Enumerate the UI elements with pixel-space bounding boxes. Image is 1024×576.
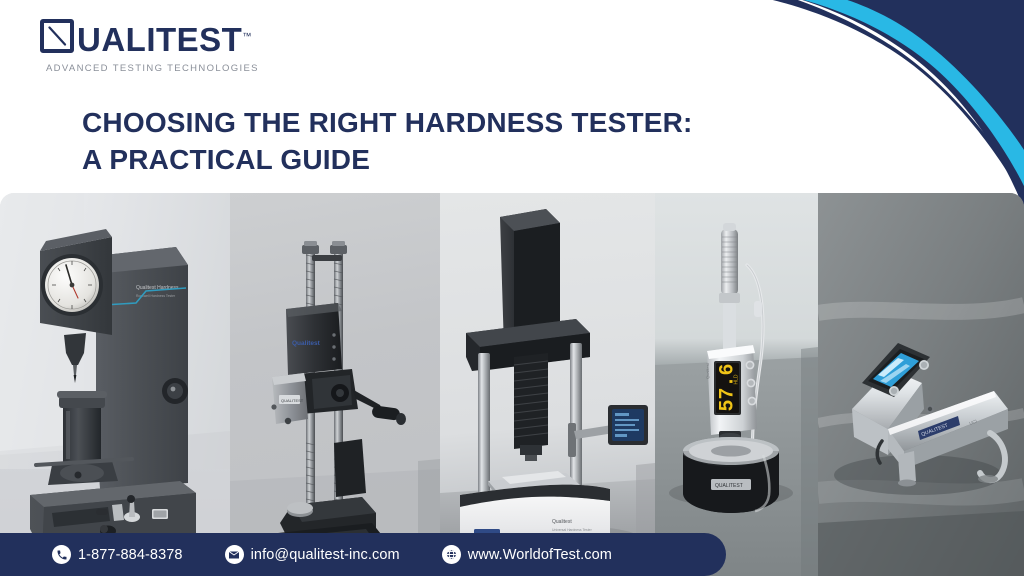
svg-text:Universal Hardness Tester: Universal Hardness Tester [552,528,593,532]
header: UALITEST™ ADVANCED TESTING TECHNOLOGIES … [0,0,780,178]
contact-website[interactable]: www.WorldofTest.com [442,545,612,564]
gallery-panel-bench-rockwell-hardness-tester[interactable]: Qualitest Hardness Rockwell Hardness Tes… [0,193,230,576]
svg-text:HLD: HLD [734,374,740,384]
column-brinell-hardness-tester-image: Qualitest QUALITEST [230,193,440,576]
brand-trademark: ™ [242,31,252,41]
brand-wordmark-text: UALITEST [77,21,242,58]
gallery-panel-handheld-uci-hardness-tester[interactable]: QUALITEST UCI [818,193,1024,576]
svg-text:QUALITEST: QUALITEST [715,483,743,489]
page-title-line2: A PRACTICAL GUIDE [82,141,780,178]
logo[interactable]: UALITEST™ [40,18,780,58]
contact-footer-bar: 1-877-884-8378 info@qualitest-inc.com [0,533,726,576]
product-gallery-strip: Qualitest Hardness Rockwell Hardness Tes… [0,193,1024,576]
contact-phone[interactable]: 1-877-884-8378 [52,545,183,564]
hardness-tester-banner: UALITEST™ ADVANCED TESTING TECHNOLOGIES … [0,0,1024,576]
contact-email-label: info@qualitest-inc.com [251,547,400,563]
universal-hardness-testing-machine-image: Qualitest Universal Hardness Tester QUAL… [440,193,655,576]
svg-text:Qualitest: Qualitest [705,362,710,379]
contact-email[interactable]: info@qualitest-inc.com [225,545,400,564]
qualitest-q-gauge-icon [40,19,76,55]
svg-text:Qualitest: Qualitest [552,519,572,525]
gauge-needle-icon [48,26,68,46]
page-title-line1: CHOOSING THE RIGHT HARDNESS TESTER: [82,107,693,138]
phone-icon [52,545,71,564]
gallery-panel-universal-hardness-testing-machine[interactable]: Qualitest Universal Hardness Tester QUAL… [440,193,655,576]
svg-text:Qualitest: Qualitest [292,340,321,347]
contact-website-label: www.WorldofTest.com [468,547,612,563]
handheld-uci-hardness-tester-image: QUALITEST UCI [818,193,1024,576]
envelope-icon [225,545,244,564]
portable-leeb-hardness-tester-image: 57.6 HLD Qualitest [655,193,818,576]
leeb-display-value: 57.6 [717,363,740,411]
svg-text:QUALITEST: QUALITEST [281,398,304,403]
bench-rockwell-hardness-tester-image: Qualitest Hardness Rockwell Hardness Tes… [0,193,230,576]
globe-icon [442,545,461,564]
contact-phone-label: 1-877-884-8378 [78,547,183,563]
brand-wordmark: UALITEST™ [77,18,252,58]
page-title: CHOOSING THE RIGHT HARDNESS TESTER: A PR… [82,104,780,178]
gallery-panel-column-brinell-hardness-tester[interactable]: Qualitest QUALITEST [230,193,440,576]
gallery-panel-portable-leeb-hardness-tester[interactable]: 57.6 HLD Qualitest [655,193,818,576]
brand-tagline: ADVANCED TESTING TECHNOLOGIES [46,63,780,74]
